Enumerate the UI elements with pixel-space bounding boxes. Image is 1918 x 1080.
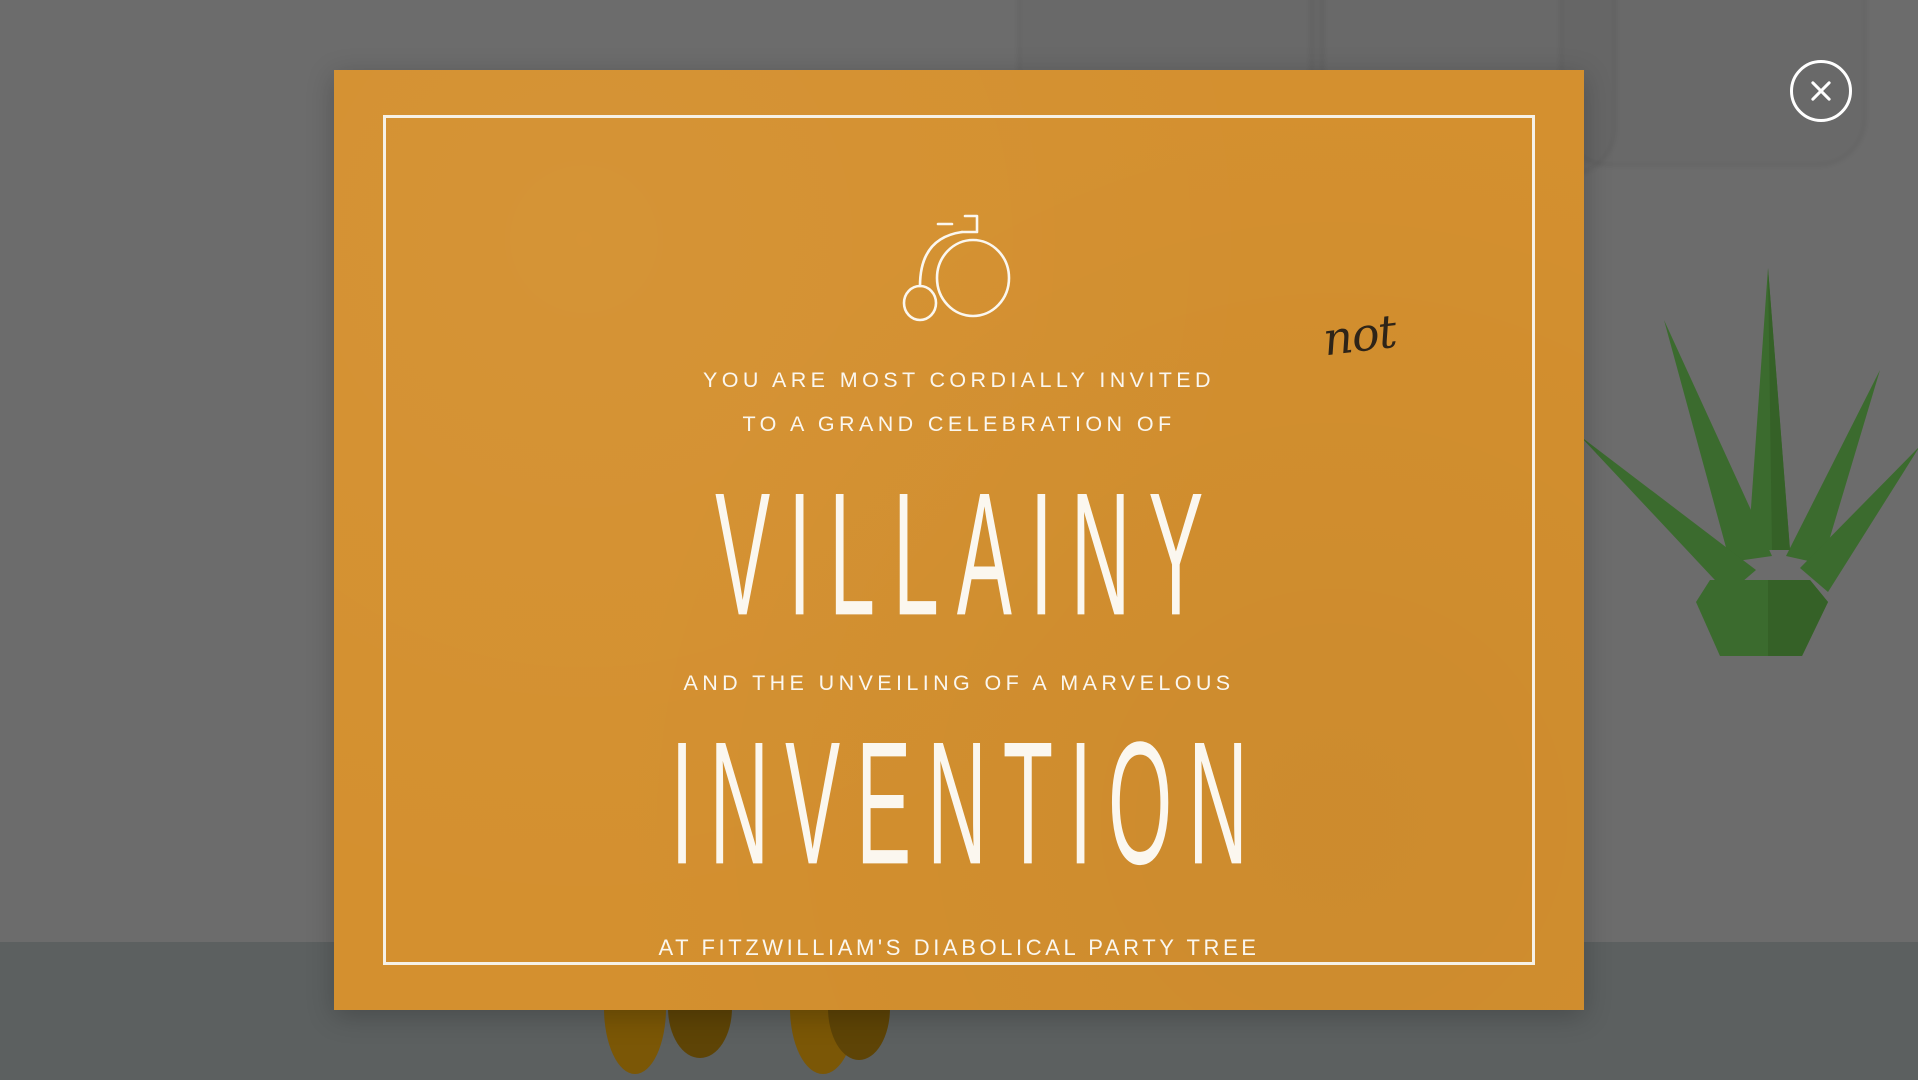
headline-villainy: VILLAINY xyxy=(697,467,1221,642)
close-icon[interactable] xyxy=(1790,60,1852,122)
mid-line-text: AND THE UNVEILING OF A MARVELOUS xyxy=(683,661,1234,705)
plant-decoration xyxy=(1560,250,1918,670)
scene: YOU ARE MOST CORDIALLY INVITED TO A GRAN… xyxy=(0,0,1918,1080)
headline-invention: INVENTION xyxy=(654,716,1263,891)
eyebrow-line-1: YOU ARE MOST CORDIALLY INVITED xyxy=(703,358,1215,402)
venue-line: AT FITZWILLIAM'S DIABOLICAL PARTY TREE xyxy=(658,926,1259,970)
eyebrow-block: YOU ARE MOST CORDIALLY INVITED TO A GRAN… xyxy=(703,358,1215,446)
penny-farthing-bicycle-icon xyxy=(894,204,1024,324)
invitation-card: YOU ARE MOST CORDIALLY INVITED TO A GRAN… xyxy=(334,70,1584,1010)
handwritten-not-annotation: not xyxy=(1320,308,1398,363)
card-content: YOU ARE MOST CORDIALLY INVITED TO A GRAN… xyxy=(334,70,1584,1010)
eyebrow-line-2: TO A GRAND CELEBRATION OF xyxy=(703,402,1215,446)
